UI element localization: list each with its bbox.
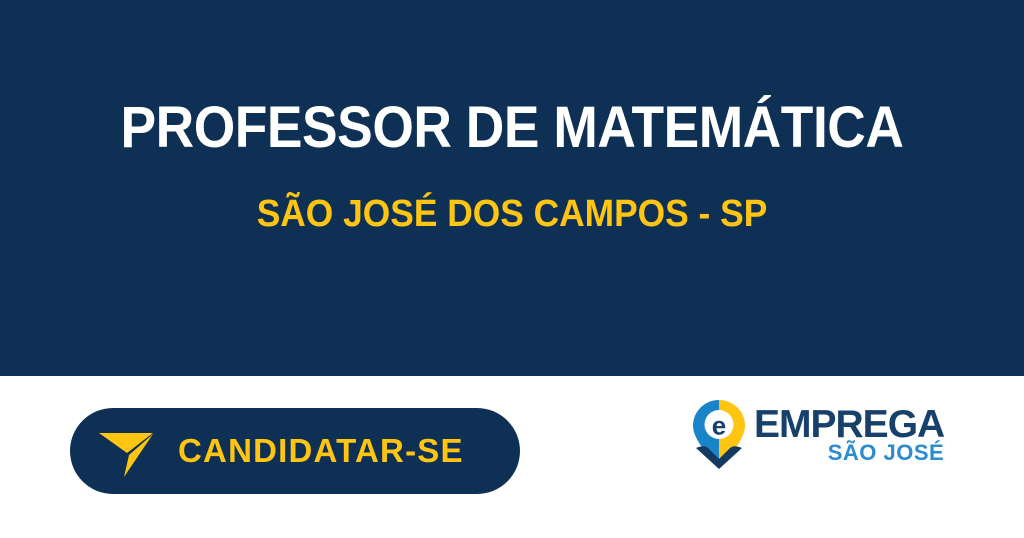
job-vacancy-card: PROFESSOR DE MATEMÁTICA São José dos Cam… <box>0 0 1024 538</box>
apply-button[interactable]: Candidatar-se <box>70 408 520 494</box>
map-pin-icon: e <box>690 398 748 470</box>
hero-banner: PROFESSOR DE MATEMÁTICA São José dos Cam… <box>0 0 1024 376</box>
brand-logo[interactable]: e EMPREGA São José <box>690 398 944 478</box>
brand-name: EMPREGA <box>754 406 944 444</box>
job-location: São José dos Campos - SP <box>36 192 988 236</box>
send-plane-icon <box>96 421 156 481</box>
brand-subtitle: São José <box>828 441 944 465</box>
svg-text:e: e <box>712 411 726 441</box>
apply-button-label: Candidatar-se <box>178 432 464 470</box>
page-title: PROFESSOR DE MATEMÁTICA <box>41 95 983 161</box>
brand-wordmark: EMPREGA São José <box>754 398 944 465</box>
footer-bar: Candidatar-se e EMPREGA <box>0 376 1024 538</box>
